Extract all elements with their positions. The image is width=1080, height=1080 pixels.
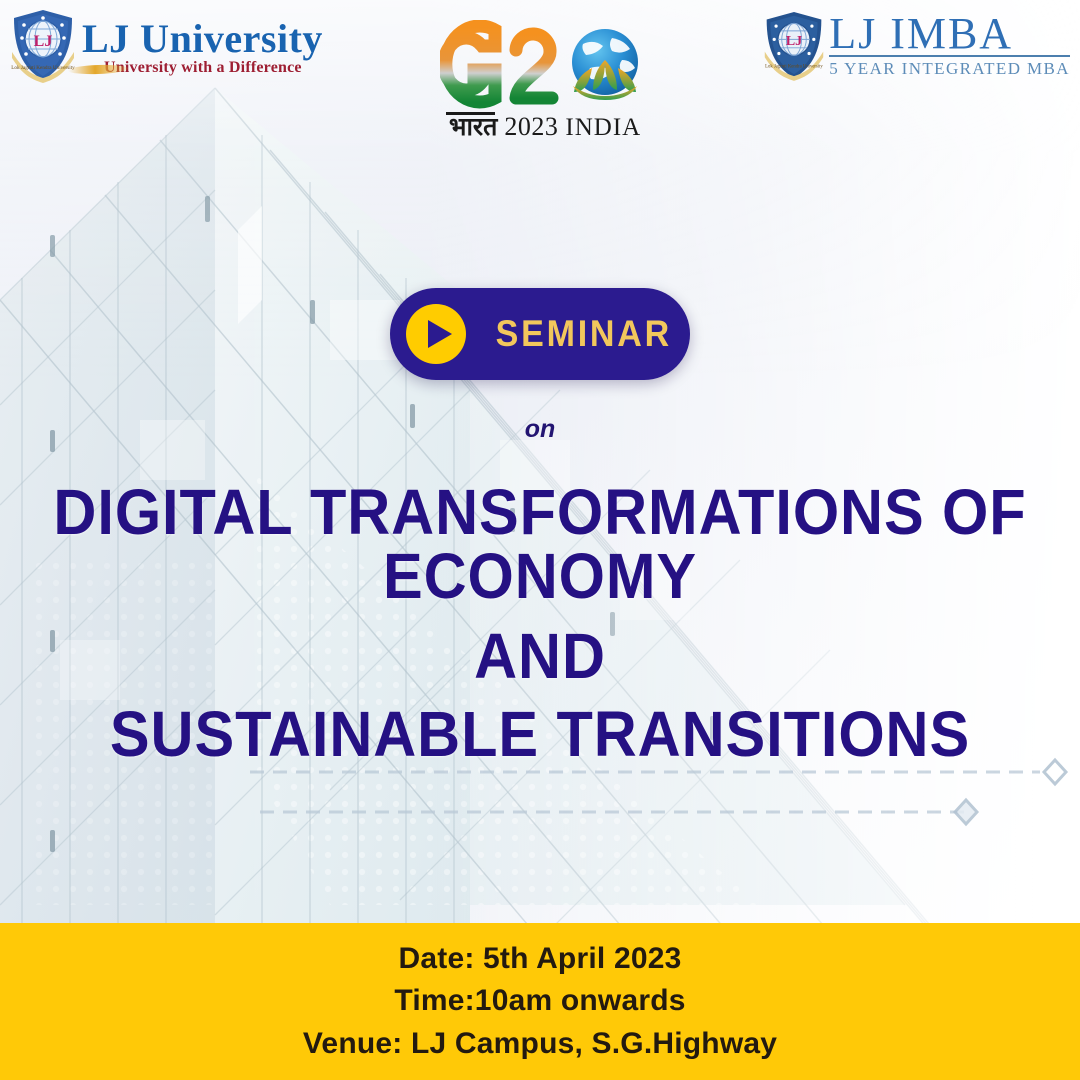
svg-text:Lok Jagruti Kendra University: Lok Jagruti Kendra University	[765, 65, 823, 70]
lj-university-crest-icon: LJ Lok Jagruti Kendra University	[8, 6, 78, 84]
seminar-poster: LJ Lok Jagruti Kendra University LJ Univ…	[0, 0, 1080, 1080]
g20-country-text: INDIA	[565, 115, 641, 140]
lj-imba-tagline: 5 YEAR INTEGRATED MBA	[829, 59, 1070, 79]
lj-imba-name: LJ IMBA	[829, 14, 1070, 54]
crest-ribbon-text: Lok Jagruti Kendra University	[11, 65, 75, 71]
lj-imba-crest-icon: LJ Lok Jagruti Kendra University	[761, 8, 827, 82]
lj-imba-logo: LJ Lok Jagruti Kendra University LJ IMBA…	[761, 8, 1070, 82]
seminar-badge-label: SEMINAR	[496, 313, 672, 355]
event-details-bar: Date: 5th April 2023 Time:10am onwards V…	[0, 923, 1080, 1080]
g20-logo: भारत 2023 INDIA	[440, 20, 655, 140]
title-line-2: AND	[38, 624, 1042, 688]
seminar-badge[interactable]: SEMINAR	[390, 288, 690, 380]
svg-text:LJ: LJ	[34, 33, 53, 50]
title-line-1: DIGITAL TRANSFORMATIONS OF ECONOMY	[38, 480, 1042, 608]
lj-university-logo: LJ Lok Jagruti Kendra University LJ Univ…	[8, 6, 323, 84]
event-venue: Venue: LJ Campus, S.G.Highway	[303, 1024, 777, 1065]
event-time: Time:10am onwards	[394, 981, 685, 1022]
g20-bharat-text: भारत	[449, 115, 498, 140]
connector-text: on	[525, 415, 556, 444]
svg-text:LJ: LJ	[786, 33, 802, 49]
page-title: DIGITAL TRANSFORMATIONS OF ECONOMY AND S…	[0, 480, 1080, 766]
lj-university-tagline: University with a Difference	[104, 59, 323, 77]
poster-header: LJ Lok Jagruti Kendra University LJ Univ…	[0, 0, 1080, 165]
g20-mark-icon	[440, 20, 655, 112]
play-icon[interactable]	[406, 304, 466, 364]
lj-university-name: LJ University	[82, 20, 323, 58]
g20-year-text: 2023	[504, 114, 558, 140]
title-line-3: SUSTAINABLE TRANSITIONS	[38, 702, 1042, 766]
event-date: Date: 5th April 2023	[399, 939, 682, 980]
